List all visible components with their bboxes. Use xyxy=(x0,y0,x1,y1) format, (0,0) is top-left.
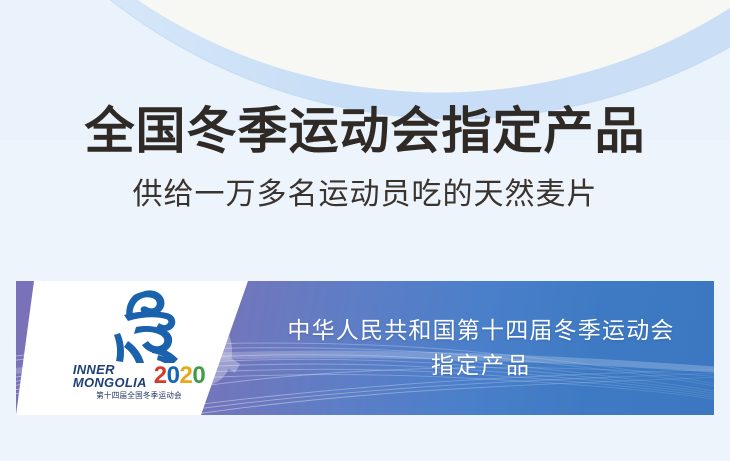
logo-year-digit-3: 2 xyxy=(179,362,192,389)
logo-english-name: INNER MONGOLIA xyxy=(73,363,147,389)
logo-wordmark: INNER MONGOLIA 2020 xyxy=(54,363,224,389)
logo-year-digit-1: 2 xyxy=(154,362,167,389)
arc-edge-line xyxy=(0,0,730,119)
heading-block: 全国冬季运动会指定产品 供给一万多名运动员吃的天然麦片 xyxy=(0,104,730,211)
logo-year-digit-4: 0 xyxy=(192,362,205,389)
logo-english-line2: MONGOLIA xyxy=(73,376,147,389)
logo-chinese-caption: 第十四届全国冬季运动会 xyxy=(58,391,220,400)
logo-year-digit-2: 0 xyxy=(167,362,180,389)
designated-product-banner: INNER MONGOLIA 2020 第十四届全国冬季运动会 中华人民共和国第… xyxy=(16,281,714,415)
banner-line-2: 指定产品 xyxy=(431,353,531,378)
logo-year: 2020 xyxy=(154,364,205,388)
games-logo: INNER MONGOLIA 2020 第十四届全国冬季运动会 xyxy=(54,287,224,411)
banner-line-1: 中华人民共和国第十四届冬季运动会 xyxy=(287,318,674,343)
banner-text-block: 中华人民共和国第十四届冬季运动会 指定产品 xyxy=(248,281,714,415)
inner-mongolia-winter-games-emblem-icon xyxy=(106,289,186,363)
promo-page: 全国冬季运动会指定产品 供给一万多名运动员吃的天然麦片 xyxy=(0,0,730,461)
arc-band xyxy=(0,0,730,119)
page-title: 全国冬季运动会指定产品 xyxy=(0,104,730,158)
arc-inner-cap xyxy=(0,0,730,93)
page-subtitle: 供给一万多名运动员吃的天然麦片 xyxy=(0,178,730,211)
